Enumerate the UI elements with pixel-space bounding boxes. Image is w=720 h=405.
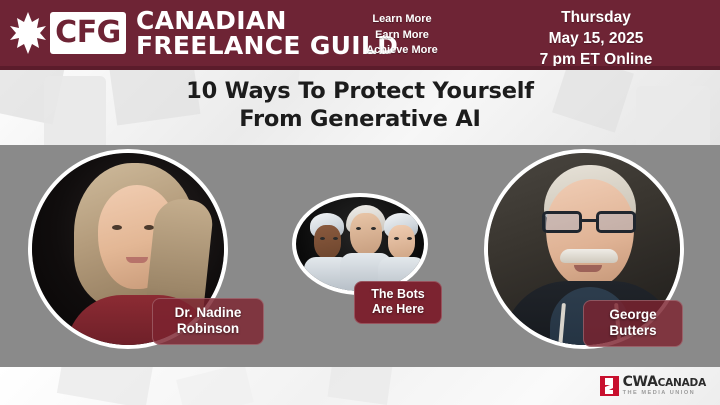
- event-date: May 15, 2025: [506, 29, 686, 50]
- robot-eye: [356, 227, 361, 230]
- cfg-abbrev-text: CFG: [55, 18, 121, 48]
- robot-eye: [407, 237, 412, 240]
- event-datetime: Thursday May 15, 2025 7 pm ET Online: [506, 8, 686, 71]
- header-tagline: Learn More Earn More Achieve More: [332, 12, 472, 59]
- mustache-shape: [560, 249, 618, 263]
- title-line2: From Generative AI: [0, 106, 720, 134]
- tagline-line1: Learn More: [332, 12, 472, 28]
- glasses-icon: [540, 211, 640, 233]
- tagline-line2: Earn More: [332, 28, 472, 44]
- mouth-shape: [574, 265, 602, 272]
- robot-eye: [394, 237, 399, 240]
- bots-caption-line2: Are Here: [359, 302, 437, 317]
- cwa-name-main: CWA: [623, 374, 658, 390]
- robot-eye: [371, 227, 376, 230]
- speaker-left-name-line2: Robinson: [157, 321, 259, 337]
- cwa-tagline: THE MEDIA UNION: [623, 391, 706, 397]
- title-line1: 10 Ways To Protect Yourself: [186, 78, 534, 104]
- bots-caption-line1: The Bots: [359, 287, 437, 302]
- robot-face: [350, 213, 382, 255]
- header-band: CFG CANADIAN FREELANCE GUILD Learn More …: [0, 0, 720, 66]
- glasses-lens: [596, 211, 636, 233]
- cfg-abbrev-badge: CFG: [50, 12, 126, 54]
- speaker-left-name-badge: Dr. Nadine Robinson: [152, 298, 264, 345]
- glasses-lens: [542, 211, 582, 233]
- cwa-wordmark: CWACANADA THE MEDIA UNION: [623, 375, 706, 397]
- decor-shape: [176, 367, 254, 405]
- robot-eye: [333, 237, 338, 240]
- robot-face: [388, 225, 415, 259]
- glasses-bridge: [582, 219, 596, 222]
- decor-shape: [57, 367, 153, 405]
- bots-caption-badge: The Bots Are Here: [354, 281, 442, 324]
- page-title: 10 Ways To Protect Yourself From Generat…: [0, 78, 720, 134]
- mouth-shape: [126, 257, 148, 263]
- speaker-right-name-line2: Butters: [588, 323, 678, 339]
- tagline-line3: Achieve More: [332, 43, 472, 59]
- bots-graphic: [292, 193, 428, 295]
- cwa-name-row: CWACANADA: [623, 375, 706, 390]
- speaker-right-name-line1: George: [588, 307, 678, 323]
- maple-leaf-icon: [8, 10, 48, 56]
- footer-band: CWACANADA THE MEDIA UNION: [0, 367, 720, 405]
- speaker-right-name-badge: George Butters: [583, 300, 683, 347]
- cwa-name-suffix: CANADA: [658, 377, 706, 389]
- webinar-promo-poster: CFG CANADIAN FREELANCE GUILD Learn More …: [0, 0, 720, 405]
- title-band: 10 Ways To Protect Yourself From Generat…: [0, 70, 720, 145]
- event-day: Thursday: [506, 8, 686, 29]
- eye-shape: [112, 225, 122, 230]
- robot-eye: [320, 237, 325, 240]
- decor-shape: [328, 367, 393, 405]
- speaker-left-name-line1: Dr. Nadine: [157, 305, 259, 321]
- cwa-canada-logo: CWACANADA THE MEDIA UNION: [600, 375, 706, 397]
- robot-face: [314, 225, 341, 259]
- cwa-mark-icon: [600, 376, 619, 396]
